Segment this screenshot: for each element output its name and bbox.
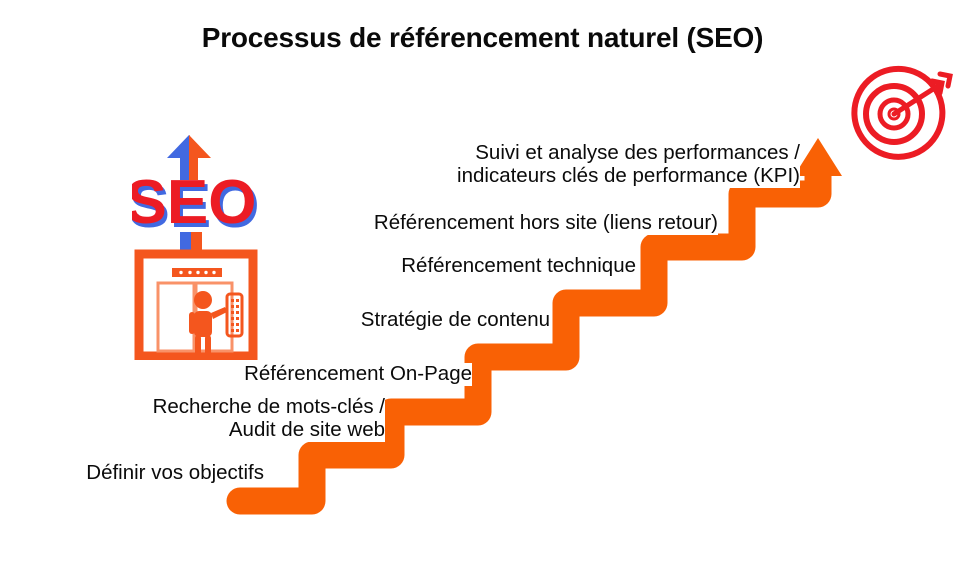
elevator-svg: SEO SEO — [132, 132, 260, 360]
target-bullseye-icon — [838, 62, 960, 166]
floor-indicator — [172, 268, 222, 277]
step-label-5: Référencement technique — [300, 255, 636, 278]
step-label-2: Recherche de mots-clés / Audit de site w… — [60, 396, 385, 442]
seo-wordmark: SEO SEO — [132, 168, 259, 241]
step-label-6: Référencement hors site (liens retour) — [250, 212, 718, 235]
infographic-canvas: Processus de référencement naturel (SEO)… — [0, 0, 965, 566]
step-label-1: Définir vos objectifs — [32, 462, 264, 485]
staircase-arrowhead-icon — [794, 138, 842, 186]
seo-elevator-illustration: SEO SEO — [132, 132, 260, 360]
elevator-button-panel — [227, 294, 242, 336]
target-illustration — [838, 62, 960, 166]
page-title: Processus de référencement naturel (SEO) — [0, 22, 965, 54]
step-label-4: Stratégie de contenu — [240, 309, 550, 332]
step-label-7: Suivi et analyse des performances / indi… — [340, 142, 800, 188]
step-label-3: Référencement On-Page — [150, 363, 472, 386]
svg-text:SEO: SEO — [132, 168, 256, 237]
arrow-tail-stub-icon — [180, 232, 202, 250]
